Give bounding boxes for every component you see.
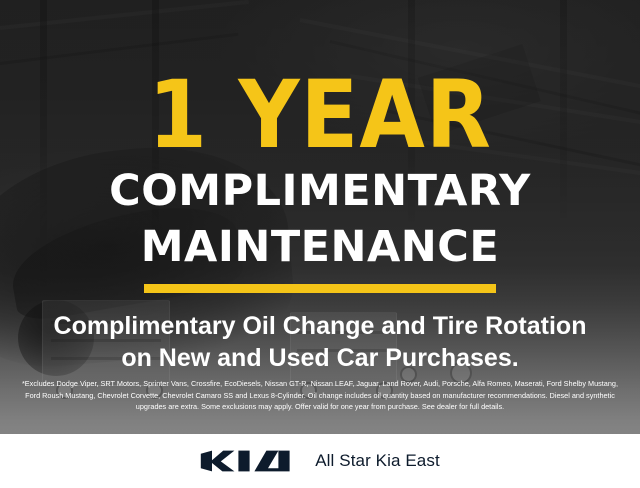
- disclaimer-text: *Excludes Dodge Viper, SRT Motors, Sprin…: [14, 378, 626, 413]
- promotional-banner: 1 YEAR COMPLIMENTARY MAINTENANCE Complim…: [0, 0, 640, 488]
- yellow-divider-rule: [144, 284, 496, 293]
- headline-secondary-line-2: MAINTENANCE: [141, 225, 499, 269]
- banner-content: 1 YEAR COMPLIMENTARY MAINTENANCE Complim…: [0, 0, 640, 488]
- offer-line-1: Complimentary Oil Change and Tire Rotati…: [54, 310, 587, 342]
- headline-primary: 1 YEAR: [148, 76, 492, 157]
- headline-secondary-line-1: COMPLIMENTARY: [109, 169, 531, 213]
- dealer-name: All Star Kia East: [315, 451, 440, 471]
- kia-logo: [200, 448, 296, 474]
- footer-bar: All Star Kia East: [0, 434, 640, 488]
- offer-description: Complimentary Oil Change and Tire Rotati…: [54, 310, 587, 374]
- offer-line-2: on New and Used Car Purchases.: [54, 342, 587, 374]
